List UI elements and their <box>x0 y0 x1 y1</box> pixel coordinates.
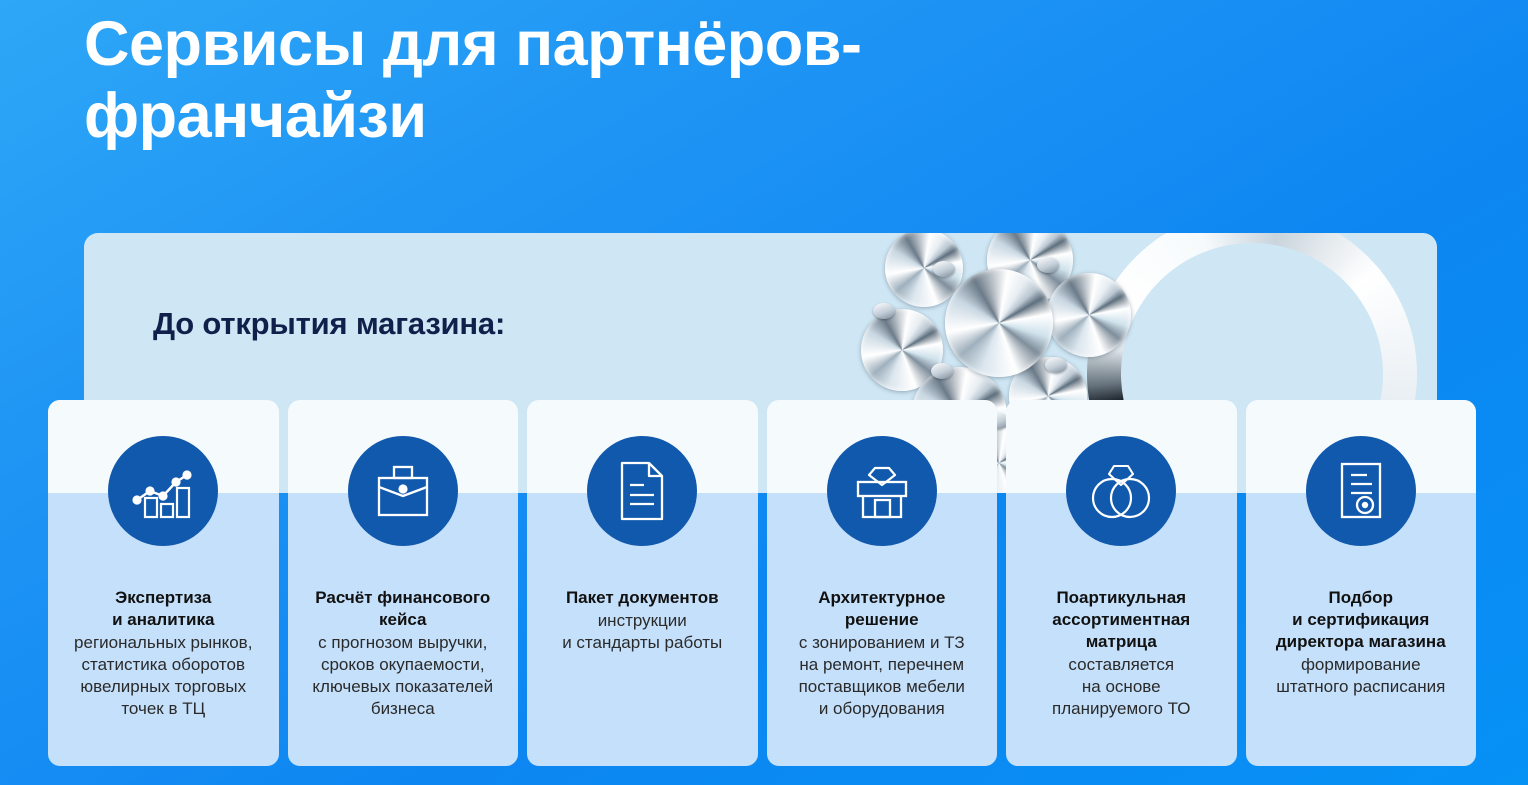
service-card-director[interactable]: Подбор и сертификация директора магазина… <box>1246 400 1477 766</box>
card-description: составляется на основе планируемого ТО <box>1014 654 1229 720</box>
promo-banner: Сервисы для партнёров- франчайзи <box>0 0 1528 785</box>
service-card-documents[interactable]: Пакет документов инструкции и стандарты … <box>527 400 758 766</box>
panel-heading: До открытия магазина: <box>153 306 505 342</box>
card-title: Экспертиза и аналитика <box>56 587 271 631</box>
card-description: формирование штатного расписания <box>1254 654 1469 698</box>
card-title: Подбор и сертификация директора магазина <box>1254 587 1469 653</box>
service-card-financial-case[interactable]: Расчёт финансового кейса с прогнозом выр… <box>288 400 519 766</box>
card-title: Пакет документов <box>535 587 750 609</box>
service-cards-row: Экспертиза и аналитика региональных рынк… <box>48 400 1476 766</box>
card-description: инструкции и стандарты работы <box>535 610 750 654</box>
card-description: с прогнозом выручки, сроков окупаемости,… <box>296 632 511 720</box>
wedding-rings-icon <box>1066 436 1176 546</box>
card-title: Поартикульная ассортиментная матрица <box>1014 587 1229 653</box>
briefcase-icon <box>348 436 458 546</box>
service-card-architecture[interactable]: Архитектурное решение с зонированием и Т… <box>767 400 998 766</box>
page-title: Сервисы для партнёров- франчайзи <box>84 8 1084 153</box>
card-title: Расчёт финансового кейса <box>296 587 511 631</box>
chart-growth-icon <box>108 436 218 546</box>
document-icon <box>587 436 697 546</box>
card-title: Архитектурное решение <box>775 587 990 631</box>
service-card-assortment-matrix[interactable]: Поартикульная ассортиментная матрица сос… <box>1006 400 1237 766</box>
card-description: региональных рынков, статистика оборотов… <box>56 632 271 720</box>
card-description: с зонированием и ТЗ на ремонт, перечнем … <box>775 632 990 720</box>
store-diamond-icon <box>827 436 937 546</box>
certificate-icon <box>1306 436 1416 546</box>
service-card-expertise[interactable]: Экспертиза и аналитика региональных рынк… <box>48 400 279 766</box>
